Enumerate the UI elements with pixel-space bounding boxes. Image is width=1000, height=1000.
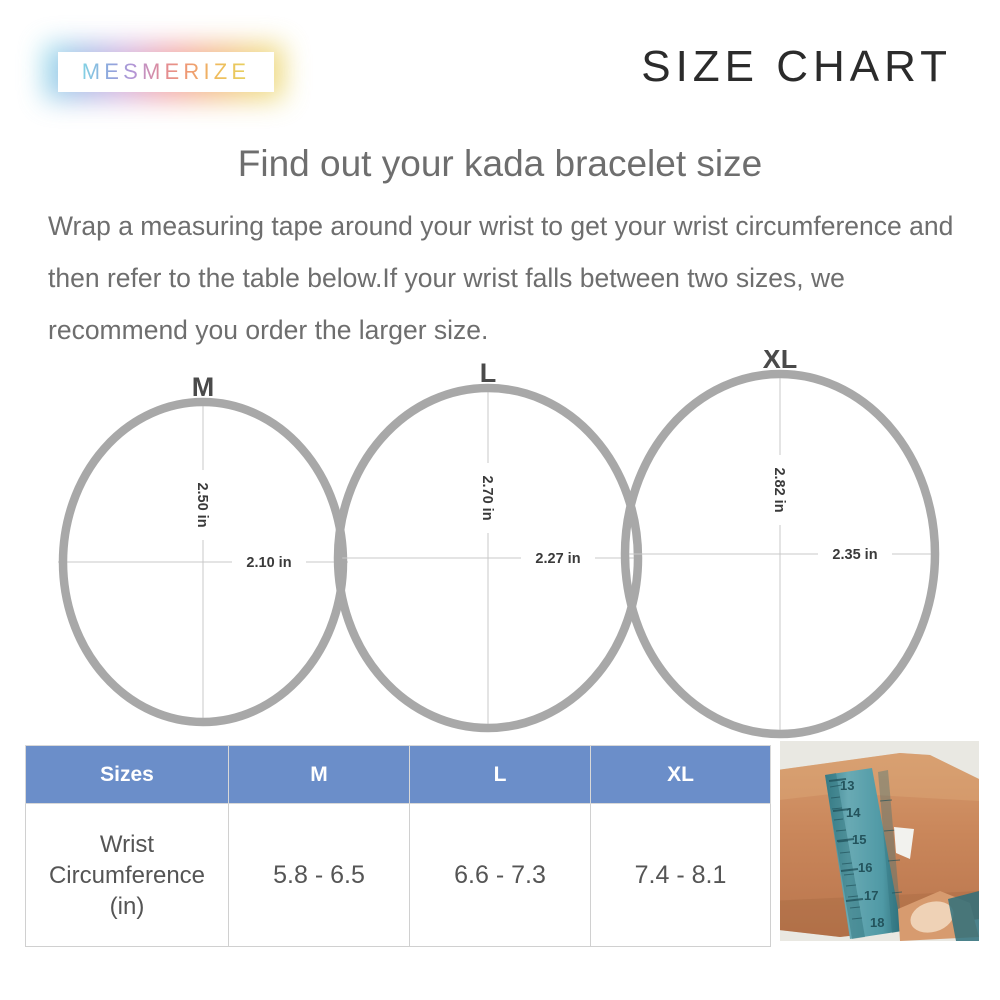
oval-l-label: L [480, 358, 497, 388]
cell-wrist-m: 5.8 - 6.5 [229, 804, 410, 947]
size-table: Sizes M L XL Wrist Circumference (in) 5.… [25, 745, 771, 947]
cell-wrist-xl: 7.4 - 8.1 [591, 804, 771, 947]
oval-m-height-label: 2.50 in [194, 482, 210, 527]
table-header-m: M [229, 746, 410, 804]
headline: Find out your kada bracelet size [0, 143, 1000, 185]
row-label-wrist-circumference: Wrist Circumference (in) [26, 804, 229, 947]
tape-mark-18: 18 [870, 915, 884, 930]
table-header-sizes: Sizes [26, 746, 229, 804]
tape-mark-17: 17 [864, 888, 878, 903]
tape-mark-13: 13 [840, 778, 854, 793]
oval-group-m: M 2.50 in 2.10 in [58, 372, 348, 722]
oval-diagram: M 2.50 in 2.10 in L 2.70 in 2.27 in [0, 350, 1000, 740]
intro-paragraph: Wrap a measuring tape around your wrist … [48, 200, 954, 356]
row-label-line1: Wrist [100, 831, 154, 858]
logo-text: MESMERIZE [82, 59, 251, 85]
oval-m-label: M [192, 372, 215, 402]
oval-l-width-label: 2.27 in [535, 551, 580, 567]
table-header-l: L [410, 746, 591, 804]
tape-mark-15: 15 [852, 832, 866, 847]
oval-l-height-label: 2.70 in [479, 475, 495, 520]
page-title: SIZE CHART [641, 42, 952, 92]
oval-m-width-label: 2.10 in [246, 555, 291, 571]
oval-group-xl: XL 2.82 in 2.35 in [625, 350, 938, 734]
brand-logo: MESMERIZE [44, 44, 284, 100]
cell-wrist-l: 6.6 - 7.3 [410, 804, 591, 947]
oval-group-l: L 2.70 in 2.27 in [338, 358, 640, 728]
logo-card: MESMERIZE [58, 52, 274, 92]
table-header-xl: XL [591, 746, 771, 804]
row-label-line2: Circumference [49, 862, 205, 889]
oval-xl-height-label: 2.82 in [771, 467, 787, 512]
tape-mark-16: 16 [858, 860, 872, 875]
wrist-measuring-photo: 13 14 15 16 17 18 [780, 741, 979, 941]
table-header-row: Sizes M L XL [26, 746, 771, 804]
oval-xl-width-label: 2.35 in [832, 547, 877, 563]
oval-xl-label: XL [763, 350, 798, 374]
row-label-line3: (in) [110, 893, 145, 920]
tape-mark-14: 14 [846, 805, 861, 820]
table-row: Wrist Circumference (in) 5.8 - 6.5 6.6 -… [26, 804, 771, 947]
